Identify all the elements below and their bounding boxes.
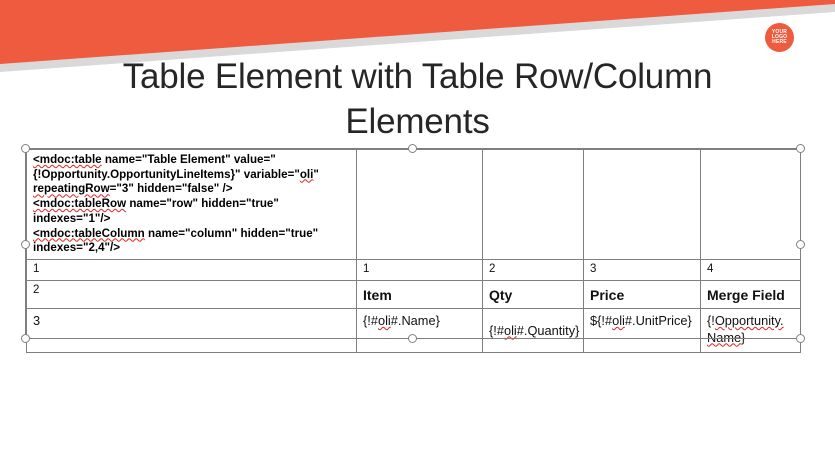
- selection-handle-top-center[interactable]: [408, 144, 417, 153]
- table-element-region[interactable]: <mdoc:table name="Table Element" value="…: [26, 149, 800, 338]
- header-cell-item[interactable]: Item: [357, 281, 483, 309]
- table-row-index-1[interactable]: 1 1 2 3 4: [27, 260, 801, 281]
- field-cell-quantity[interactable]: {!#oli#.Quantity}: [483, 309, 584, 353]
- column-index-label-1: 1: [357, 260, 483, 281]
- row-index-label-3: 3: [27, 309, 357, 353]
- field-cell-name[interactable]: {!#oli#.Name}: [357, 309, 483, 353]
- logo-line-3: HERE: [772, 40, 787, 45]
- row-index-label-1: 1: [27, 260, 357, 281]
- field-cell-opportunity-name[interactable]: {!Opportunity.Name}: [701, 309, 801, 353]
- selection-handle-top-left[interactable]: [21, 144, 30, 153]
- row-index-label-2: 2: [27, 281, 357, 309]
- header-cell-merge-field[interactable]: Merge Field: [701, 281, 801, 309]
- column-index-label-4: 4: [701, 260, 801, 281]
- logo-badge: YOUR LOGO HERE: [765, 23, 794, 52]
- table-row-header[interactable]: 2 Item Qty Price Merge Field: [27, 281, 801, 309]
- field-cell-unitprice[interactable]: ${!#oli#.UnitPrice}: [584, 309, 701, 353]
- cell-code-col1[interactable]: [357, 150, 483, 260]
- cell-code-col2[interactable]: [483, 150, 584, 260]
- selection-handle-bottom-center[interactable]: [408, 334, 417, 343]
- column-index-label-2: 2: [483, 260, 584, 281]
- table-row-fields[interactable]: 3 {!#oli#.Name} {!#oli#.Quantity} ${!#ol…: [27, 309, 801, 353]
- selection-handle-bottom-left[interactable]: [21, 334, 30, 343]
- selection-handle-bottom-right[interactable]: [796, 334, 805, 343]
- selection-handle-middle-left[interactable]: [21, 240, 30, 249]
- selection-handle-middle-right[interactable]: [796, 240, 805, 249]
- cell-code-block[interactable]: <mdoc:table name="Table Element" value="…: [27, 150, 357, 260]
- table-row-code[interactable]: <mdoc:table name="Table Element" value="…: [27, 150, 801, 260]
- cell-code-col3[interactable]: [584, 150, 701, 260]
- selection-handle-top-right[interactable]: [796, 144, 805, 153]
- page-title: Table Element with Table Row/Column Elem…: [60, 55, 775, 145]
- header-cell-price[interactable]: Price: [584, 281, 701, 309]
- header-cell-qty[interactable]: Qty: [483, 281, 584, 309]
- mdoc-code-text: <mdoc:table name="Table Element" value="…: [33, 153, 351, 256]
- document-table[interactable]: <mdoc:table name="Table Element" value="…: [26, 149, 801, 353]
- cell-code-col4[interactable]: [701, 150, 801, 260]
- column-index-label-3: 3: [584, 260, 701, 281]
